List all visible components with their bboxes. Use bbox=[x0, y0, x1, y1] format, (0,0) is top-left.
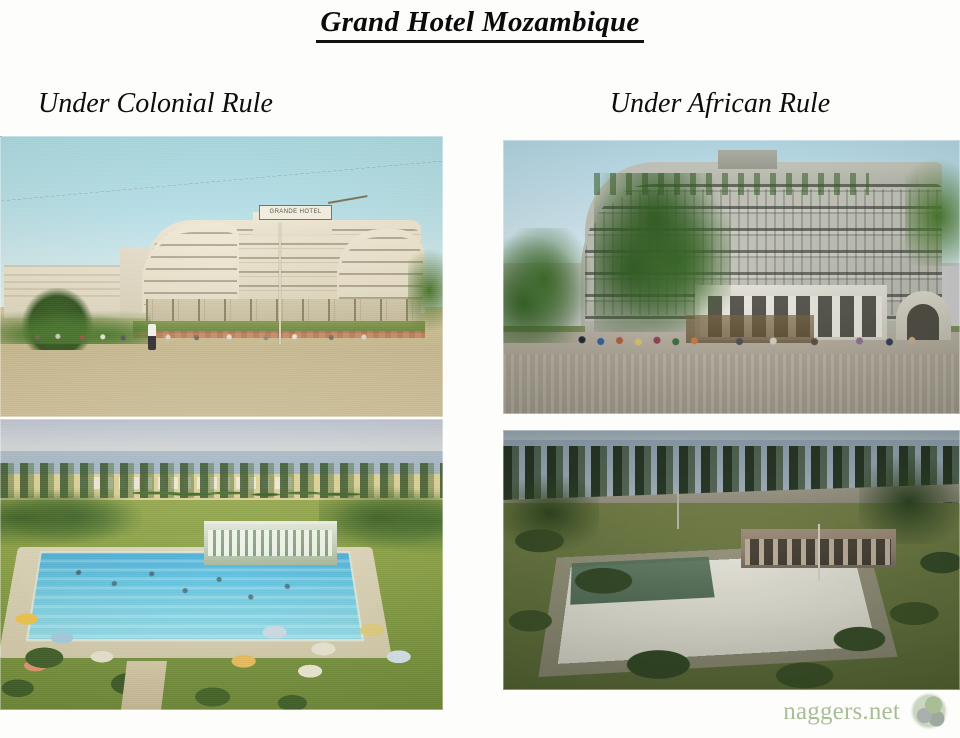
photo-hotel-derelict bbox=[503, 140, 960, 414]
watermark-text: naggers.net bbox=[783, 699, 900, 724]
scene-pool-colonial bbox=[0, 419, 443, 710]
page-title-text: Grand Hotel Mozambique bbox=[316, 7, 643, 43]
scene-hotel-derelict bbox=[503, 140, 960, 414]
naggers-logo-icon bbox=[910, 692, 948, 730]
scene-hotel-colonial: GRANDE HOTEL bbox=[0, 136, 443, 417]
heading-right-column: Under African Rule bbox=[480, 88, 960, 120]
photo-pool-derelict bbox=[503, 430, 960, 690]
photo-cool-tone bbox=[503, 140, 960, 414]
comparison-image-canvas: Grand Hotel Mozambique Under Colonial Ru… bbox=[0, 0, 960, 738]
photo-cool-tone bbox=[503, 430, 960, 690]
photo-hotel-colonial: GRANDE HOTEL bbox=[0, 136, 443, 417]
page-title: Grand Hotel Mozambique bbox=[0, 6, 960, 43]
watermark: naggers.net bbox=[783, 692, 948, 730]
heading-left-column: Under Colonial Rule bbox=[38, 88, 273, 120]
film-grain bbox=[0, 136, 443, 417]
film-grain bbox=[0, 419, 443, 710]
photo-pool-colonial bbox=[0, 419, 443, 710]
scene-pool-derelict bbox=[503, 430, 960, 690]
